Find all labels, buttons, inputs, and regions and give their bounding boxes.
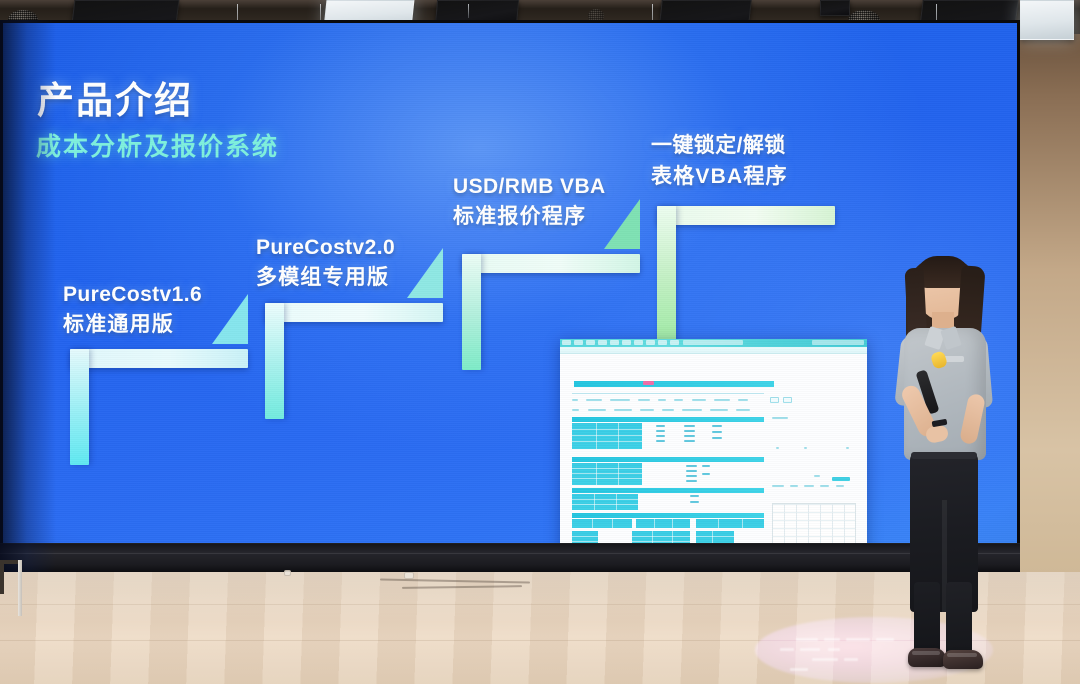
step-1-vertical-bar xyxy=(70,349,89,465)
sheet-text xyxy=(610,399,630,401)
floor-marker xyxy=(284,570,291,576)
sheet-number xyxy=(690,495,699,497)
sheet-text xyxy=(836,485,844,487)
sheet-text xyxy=(572,399,578,401)
sheet-text xyxy=(638,399,650,401)
screenshot-root: 产品介绍 成本分析及报价系统 PureCostv1.6 标准通用版 PureCo… xyxy=(0,0,1080,684)
spreadsheet-body xyxy=(560,355,867,543)
sheet-button xyxy=(783,397,792,403)
presenter-shoe-left xyxy=(908,648,946,667)
sheet-number xyxy=(656,430,665,432)
sheet-text xyxy=(846,447,849,449)
step-1-horizontal-bar xyxy=(70,349,248,368)
sheet-text xyxy=(658,399,666,401)
wall-right-panel xyxy=(1020,0,1080,600)
step-4-label-line2: 表格VBA程序 xyxy=(651,160,788,190)
floor-marker xyxy=(404,572,414,579)
sheet-highlight-cell xyxy=(643,381,654,385)
step-1-label-line2: 标准通用版 xyxy=(63,308,202,338)
step-2-arrow-icon xyxy=(407,248,443,298)
sheet-number xyxy=(686,465,697,467)
sheet-number xyxy=(702,465,710,467)
presenter-belt xyxy=(911,452,977,459)
spreadsheet-ribbon xyxy=(560,339,867,347)
step-3-label-line1: USD/RMB VBA xyxy=(453,175,606,199)
step-1-label-line1: PureCostv1.6 xyxy=(63,283,202,307)
led-video-wall: 产品介绍 成本分析及报价系统 PureCostv1.6 标准通用版 PureCo… xyxy=(0,20,1020,572)
sheet-section-header xyxy=(572,457,764,462)
step-2-horizontal-bar xyxy=(265,303,443,322)
step-4-horizontal-bar xyxy=(657,206,835,225)
sheet-header-band xyxy=(574,381,774,387)
sheet-text xyxy=(674,399,683,401)
sheet-text xyxy=(804,447,807,449)
led-screen-surface: 产品介绍 成本分析及报价系统 PureCostv1.6 标准通用版 PureCo… xyxy=(3,23,1017,543)
sheet-section-header xyxy=(572,417,764,422)
sheet-text xyxy=(814,475,820,477)
presenter-leg-left xyxy=(914,582,940,656)
sheet-text xyxy=(640,409,654,411)
step-1-arrow-icon xyxy=(212,294,248,344)
sheet-text xyxy=(692,399,706,401)
step-2-label-line1: PureCostv2.0 xyxy=(256,236,395,260)
sheet-number xyxy=(684,440,695,442)
step-4-label: 一键锁定/解锁 表格VBA程序 xyxy=(651,129,788,190)
sheet-text xyxy=(710,409,728,411)
stand-post xyxy=(18,560,22,616)
sheet-text xyxy=(738,399,748,401)
sheet-text xyxy=(790,485,798,487)
sheet-number xyxy=(684,435,695,437)
sheet-text xyxy=(588,409,606,411)
sheet-text xyxy=(776,447,779,449)
presenter xyxy=(880,252,1015,684)
sheet-data-block xyxy=(572,423,642,449)
light-wire xyxy=(468,4,469,18)
spreadsheet-screenshot xyxy=(560,339,867,543)
sheet-cyan-button xyxy=(832,477,850,481)
step-3-vertical-bar xyxy=(462,254,481,370)
step-1-label: PureCostv1.6 标准通用版 xyxy=(63,283,202,338)
presenter-leg-right xyxy=(946,582,972,656)
step-3-label: USD/RMB VBA 标准报价程序 xyxy=(453,175,606,230)
sheet-number xyxy=(684,430,695,432)
spreadsheet-toolbar xyxy=(560,347,867,354)
spreadsheet-tabs xyxy=(562,340,679,345)
sheet-number xyxy=(684,425,695,427)
led-bottom-bezel xyxy=(0,543,1020,572)
sheet-number xyxy=(686,475,697,477)
sheet-text xyxy=(772,485,784,487)
step-3-horizontal-bar xyxy=(462,254,640,273)
sheet-text xyxy=(682,409,702,411)
step-2-label-line2: 多模组专用版 xyxy=(256,261,395,291)
step-2-vertical-bar xyxy=(265,303,284,419)
presenter-shoe-right xyxy=(943,650,983,669)
sheet-mini-table xyxy=(772,503,856,543)
sheet-number xyxy=(690,501,699,503)
sheet-data-block xyxy=(572,519,632,528)
page-subtitle: 成本分析及报价系统 xyxy=(36,127,279,163)
sheet-data-block xyxy=(572,531,598,543)
spreadsheet-title-bar xyxy=(683,340,743,345)
sheet-data-block xyxy=(696,531,734,543)
sheet-text xyxy=(662,409,674,411)
sheet-text xyxy=(614,409,632,411)
stand-arm-vertical xyxy=(0,560,4,594)
sheet-data-block xyxy=(572,463,642,485)
sheet-button xyxy=(770,397,779,403)
sheet-text xyxy=(736,409,750,411)
sheet-number xyxy=(656,440,665,442)
sheet-text xyxy=(586,399,602,401)
step-4-label-line1: 一键锁定/解锁 xyxy=(651,129,788,159)
page-title: 产品介绍 xyxy=(37,70,193,124)
sheet-data-block xyxy=(696,519,764,528)
equipment-stand xyxy=(0,560,36,620)
sheet-data-block xyxy=(636,519,690,528)
panel-light-icon xyxy=(820,0,850,16)
sheet-text xyxy=(820,485,829,487)
step-3-label-line2: 标准报价程序 xyxy=(453,200,606,230)
sheet-number xyxy=(686,470,697,472)
sheet-number xyxy=(656,435,665,437)
panel-light-icon xyxy=(1020,0,1074,40)
sheet-section-header xyxy=(572,488,764,493)
sheet-rule xyxy=(572,393,764,394)
sheet-data-block xyxy=(632,531,690,543)
sheet-text xyxy=(714,399,730,401)
sheet-number xyxy=(712,425,722,427)
sheet-number xyxy=(702,473,710,475)
step-2-label: PureCostv2.0 多模组专用版 xyxy=(256,236,395,291)
sheet-text xyxy=(772,417,788,419)
spreadsheet-window-controls xyxy=(812,340,864,345)
sheet-number xyxy=(712,431,722,433)
sheet-data-block xyxy=(572,494,638,510)
sheet-number xyxy=(686,480,697,482)
sheet-number xyxy=(656,425,665,427)
sheet-number xyxy=(712,437,722,439)
sheet-text xyxy=(804,485,814,487)
step-4-vertical-bar xyxy=(657,206,676,346)
sheet-text xyxy=(572,409,579,411)
sheet-section-header xyxy=(572,513,764,518)
step-3-arrow-icon xyxy=(604,199,640,249)
